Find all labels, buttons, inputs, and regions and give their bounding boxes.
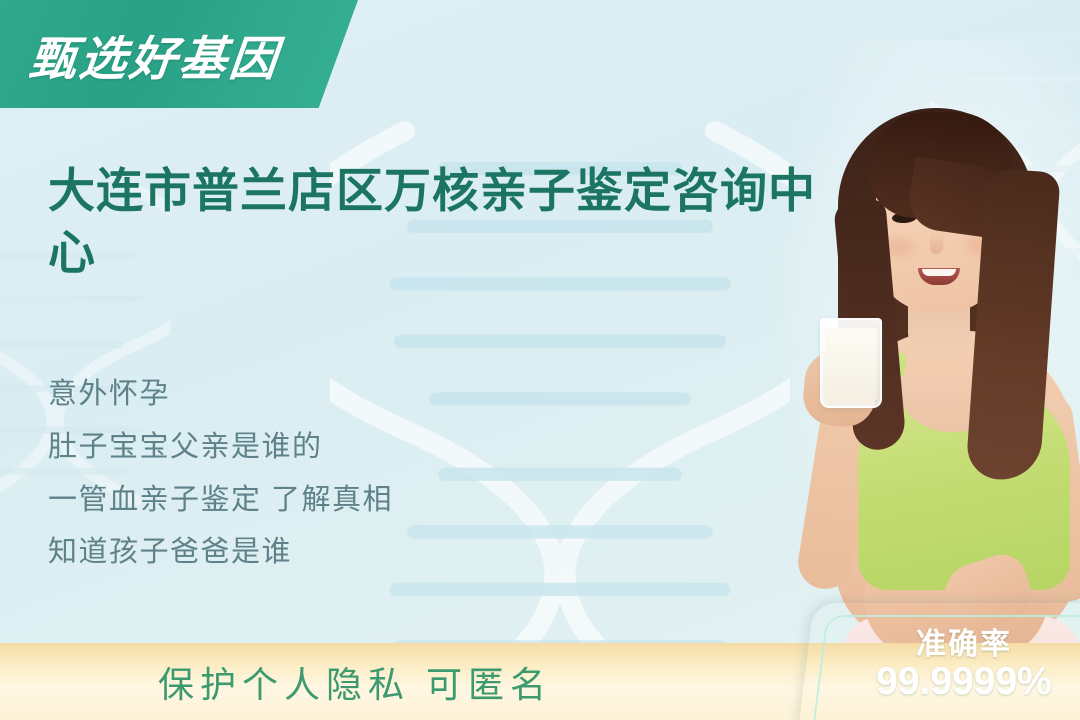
copy-line-3: 一管血亲子鉴定 了解真相 xyxy=(48,474,393,527)
copy-line-1: 意外怀孕 xyxy=(48,368,393,421)
privacy-bar-text: 保护个人隐私 可匿名 xyxy=(158,656,552,708)
poster-canvas: 甄选好基因 大连市普兰店区万核亲子鉴定咨询中心 意外怀孕 肚子宝宝父亲是谁的 一… xyxy=(0,0,1080,720)
accuracy-badge-content: 准确率 99.9999% xyxy=(806,603,1080,720)
copy-line-2: 肚子宝宝父亲是谁的 xyxy=(48,421,393,474)
brand-ribbon-text: 甄选好基因 xyxy=(26,20,283,89)
page-title: 大连市普兰店区万核亲子鉴定咨询中心 xyxy=(48,160,858,284)
accuracy-label: 准确率 xyxy=(916,628,1012,662)
copy-line-4: 知道孩子爸爸是谁 xyxy=(48,526,393,579)
accuracy-value: 99.9999% xyxy=(876,661,1052,704)
marketing-copy: 意外怀孕 肚子宝宝父亲是谁的 一管血亲子鉴定 了解真相 知道孩子爸爸是谁 xyxy=(48,368,393,579)
milk-fill xyxy=(825,328,877,403)
teeth xyxy=(922,269,956,276)
brand-ribbon: 甄选好基因 xyxy=(0,0,358,108)
nose xyxy=(930,232,943,254)
model-photo xyxy=(780,0,1080,680)
milk-glass-icon xyxy=(820,318,882,408)
